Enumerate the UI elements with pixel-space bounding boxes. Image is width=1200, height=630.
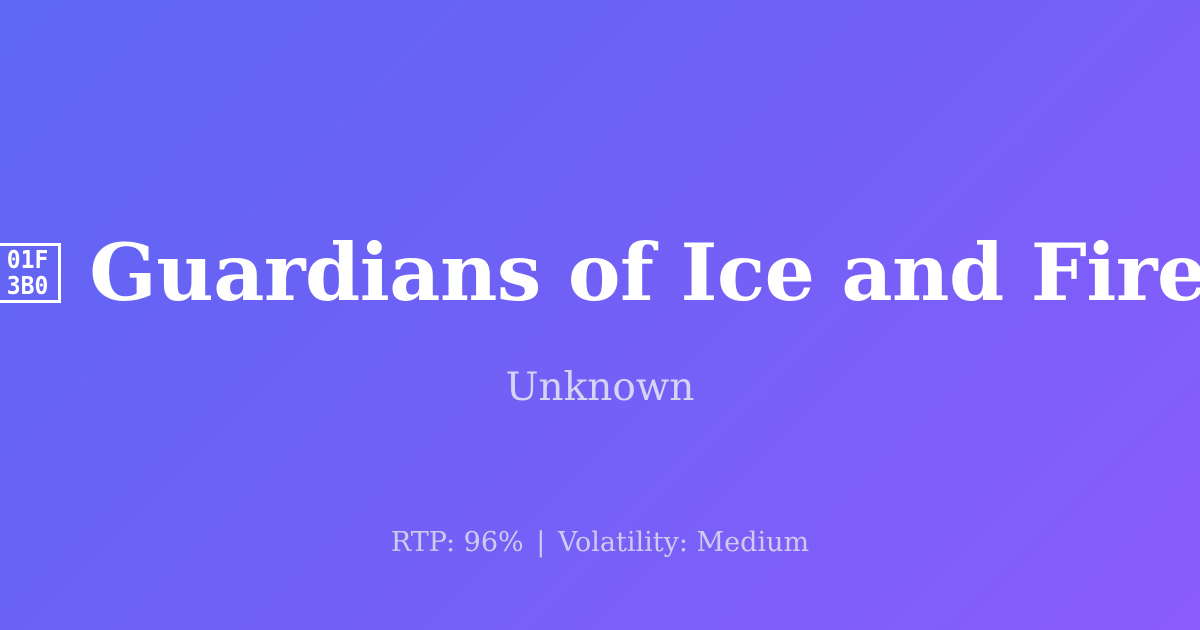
provider-label: Unknown xyxy=(0,365,1200,411)
slot-machine-emoji: 01F 3B0 xyxy=(0,243,61,303)
slot-machine-emoji-codepoint-top: 01F xyxy=(7,247,49,273)
volatility-value: Volatility: Medium xyxy=(558,527,809,558)
game-preview-card: 01F 3B0 Guardians of Ice and Fire Unknow… xyxy=(0,0,1200,630)
title-row: 01F 3B0 Guardians of Ice and Fire xyxy=(0,232,1200,314)
game-meta-line: RTP: 96% | Volatility: Medium xyxy=(0,527,1200,559)
slot-machine-emoji-codepoint-bottom: 3B0 xyxy=(7,273,49,299)
page-title: Guardians of Ice and Fire xyxy=(89,232,1200,314)
meta-separator: | xyxy=(532,527,549,558)
rtp-value: RTP: 96% xyxy=(391,527,524,558)
